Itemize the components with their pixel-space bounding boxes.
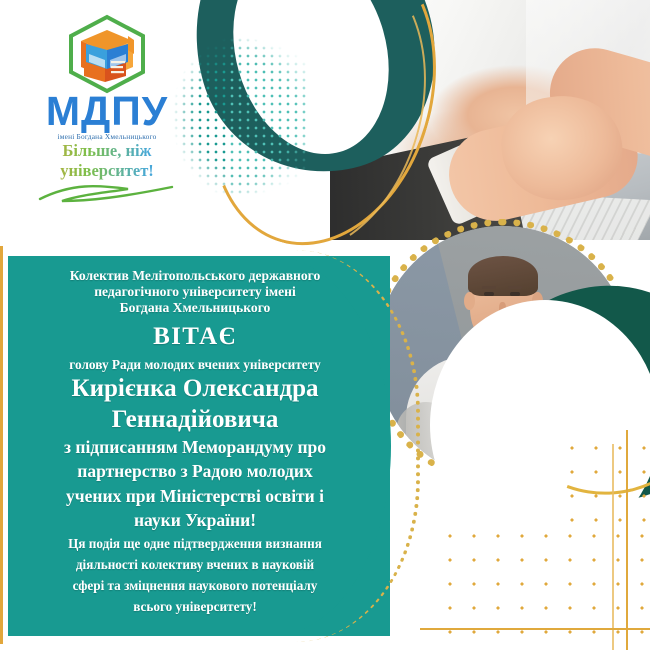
gold-dot-grid-decor	[438, 524, 650, 650]
message-text-block: Колектив Мелітопольського державного пед…	[8, 256, 390, 636]
hexagon-book-cube-icon	[64, 14, 150, 94]
logo-subtitle: імені Богдана Хмельницького	[14, 132, 200, 141]
green-swoosh-icon	[32, 179, 182, 205]
university-logo: МДПУ імені Богдана Хмельницького Більше,…	[14, 14, 200, 164]
gold-dot-grid-upper-decor	[560, 436, 650, 536]
closing-line-2: діяльності колективу вчених в науковій	[26, 557, 364, 573]
occasion-line-4: науки України!	[26, 510, 364, 531]
eye-left-decor	[484, 292, 494, 296]
occasion-line-3: учених при Міністерстві освіти і	[26, 486, 364, 507]
hair-decor	[468, 256, 538, 296]
closing-line-3: сфері та зміцнення наукового потенціалу	[26, 578, 364, 594]
eyebrow-left-decor	[482, 286, 496, 289]
eye-right-decor	[510, 292, 520, 296]
occasion-line-2: партнерство з Радою молодих	[26, 461, 364, 482]
logo-acronym: МДПУ	[14, 92, 200, 131]
intro-line-2: педагогічного університету імені	[26, 284, 364, 300]
closing-line-4: всього університету!	[26, 599, 364, 615]
teal-dot-grid-inner-decor	[228, 36, 308, 198]
gold-vertical-line-decor	[626, 430, 628, 650]
intro-line-3: Богдана Хмельницького	[26, 300, 364, 316]
honoree-name-line-1: Кирієнка Олександра	[26, 375, 364, 403]
panel-left-gold-border	[0, 246, 3, 644]
intro-line-1: Колектив Мелітопольського державного	[26, 268, 364, 284]
gold-vertical-line-inner-decor	[612, 444, 614, 650]
honoree-name-line-2: Геннадійовича	[26, 406, 364, 434]
ear-left-decor	[464, 292, 475, 310]
eyebrow-right-decor	[508, 286, 522, 289]
occasion-line-1: з підписанням Меморандуму про	[26, 437, 364, 458]
gold-horizontal-line-decor	[420, 628, 650, 630]
role-line: голову Ради молодих вчених університету	[26, 357, 364, 373]
congratulation-poster: МДПУ імені Богдана Хмельницького Більше,…	[0, 0, 650, 650]
greeting-heading: ВІТАЄ	[26, 323, 364, 351]
logo-slogan: Більше, ніж університет!	[14, 141, 200, 181]
closing-line-1: Ця подія ще одне підтвердження визнання	[26, 536, 364, 552]
message-panel: Колектив Мелітопольського державного пед…	[8, 256, 390, 636]
